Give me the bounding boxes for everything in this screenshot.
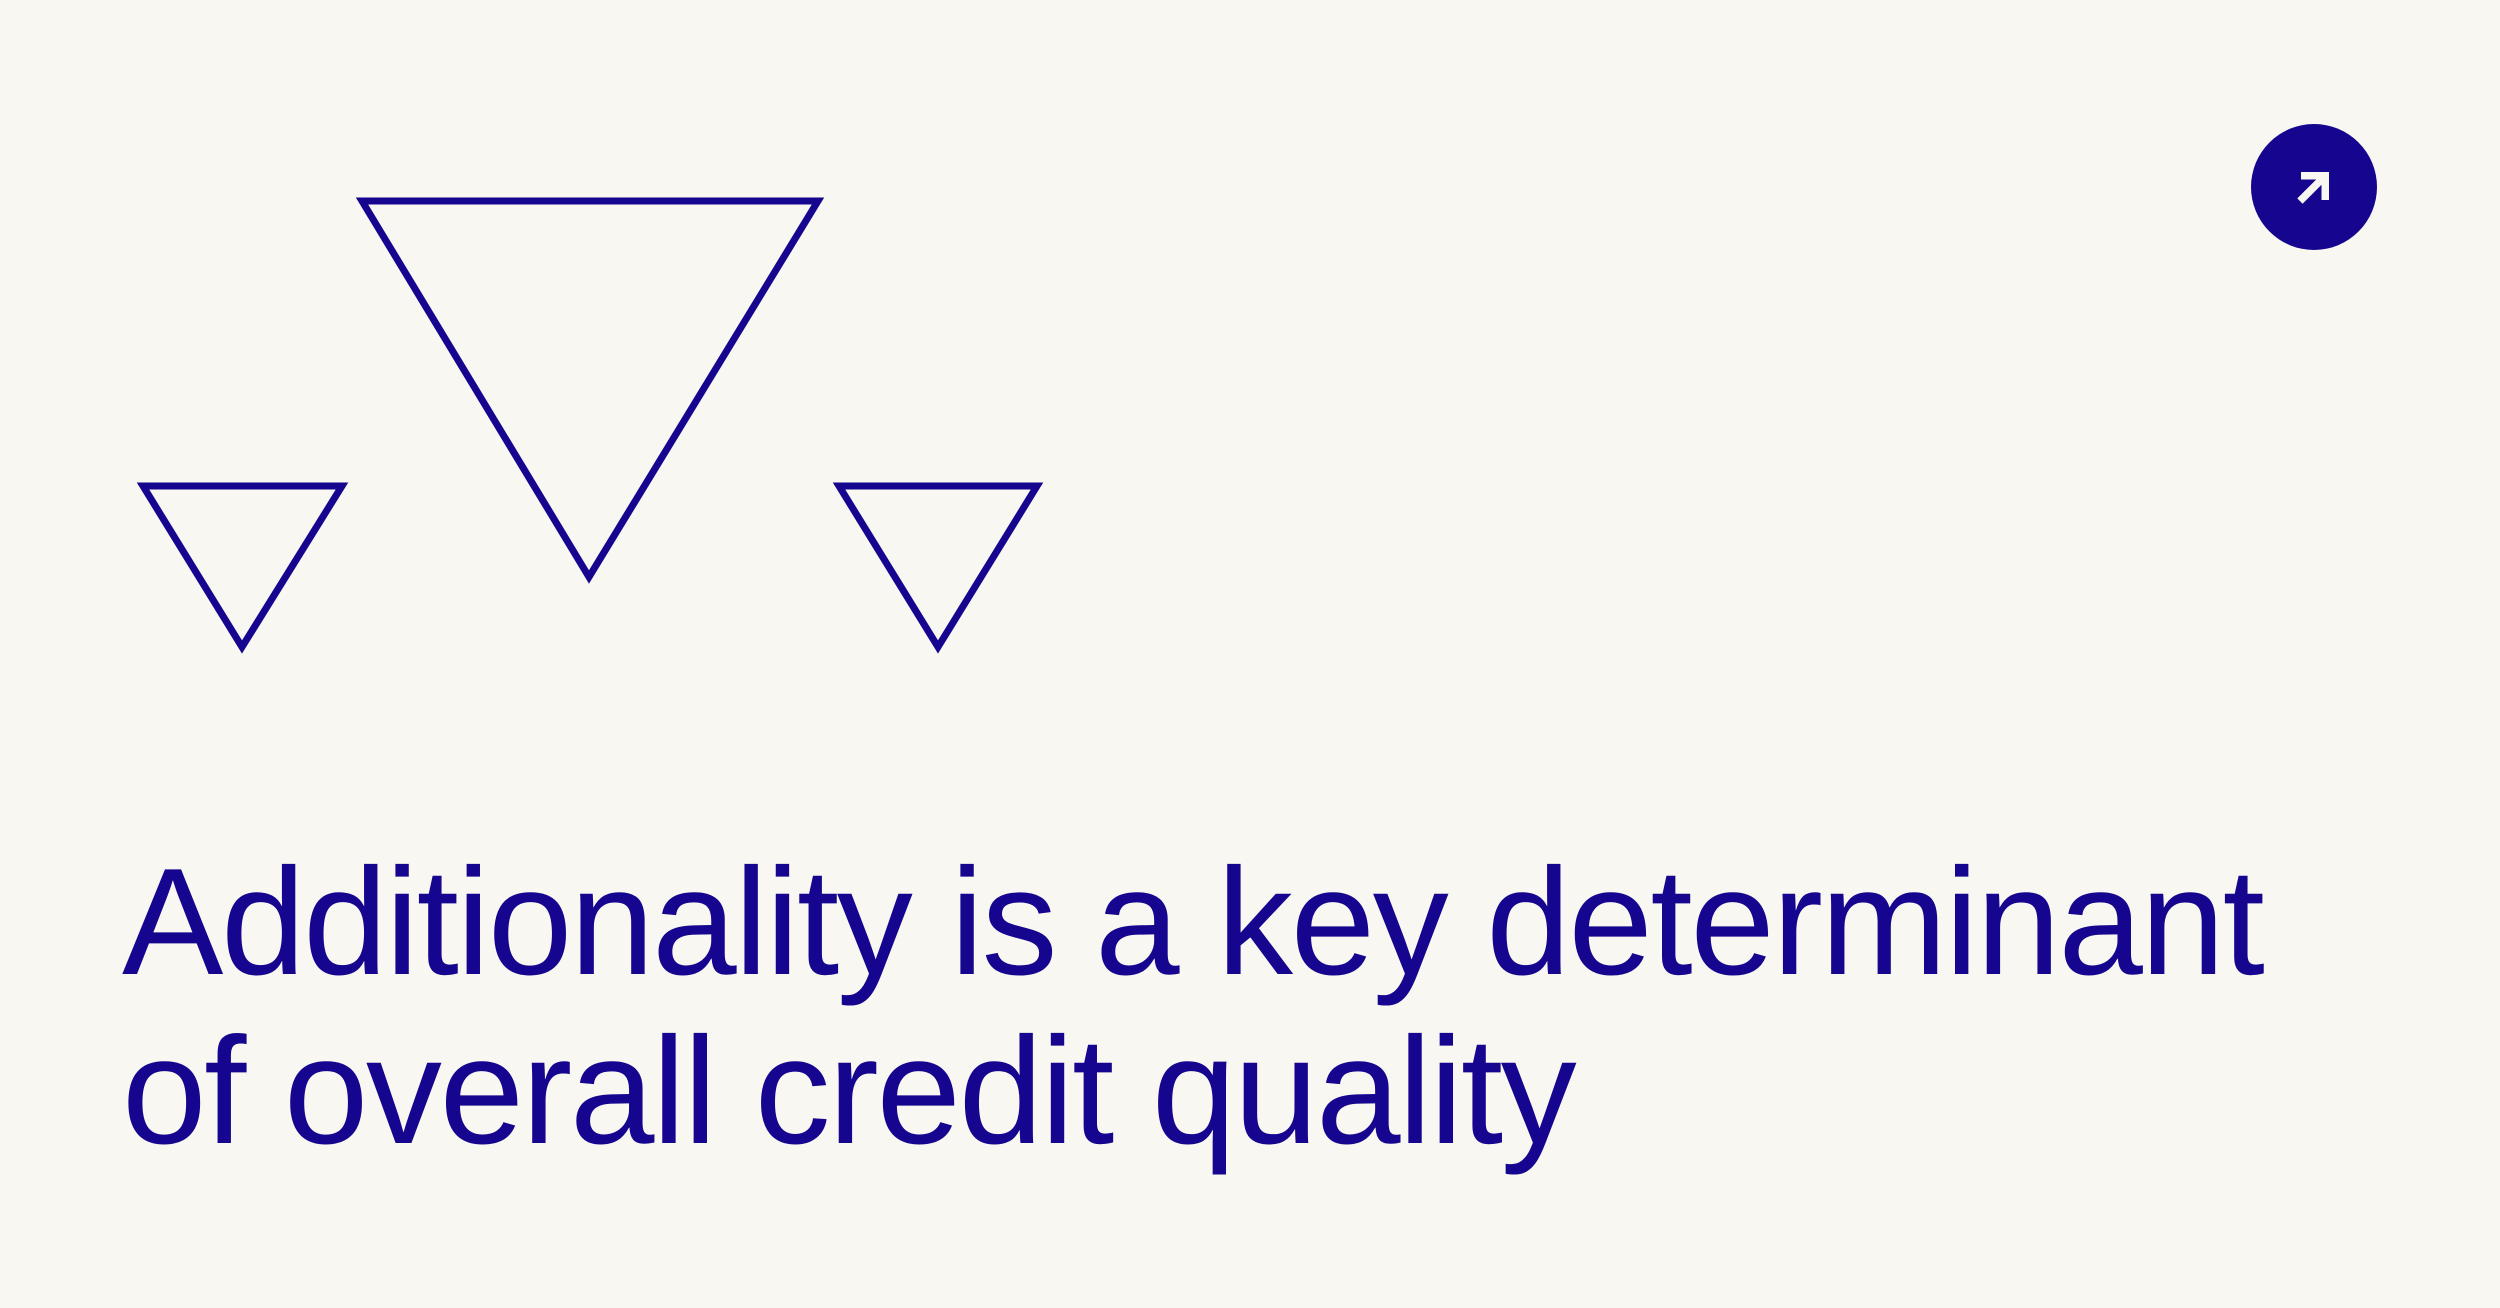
open-link-button[interactable] — [2251, 124, 2377, 250]
downward-triangles-graphic — [0, 0, 1200, 760]
promo-card: Additionality is a key determinant of ov… — [0, 0, 2500, 1308]
large-triangle-center — [362, 201, 818, 577]
arrow-up-right-icon — [2285, 158, 2343, 216]
small-triangle-left — [143, 486, 342, 647]
small-triangle-right — [839, 486, 1037, 647]
page-title: Additionality is a key determinant of ov… — [122, 838, 2382, 1176]
